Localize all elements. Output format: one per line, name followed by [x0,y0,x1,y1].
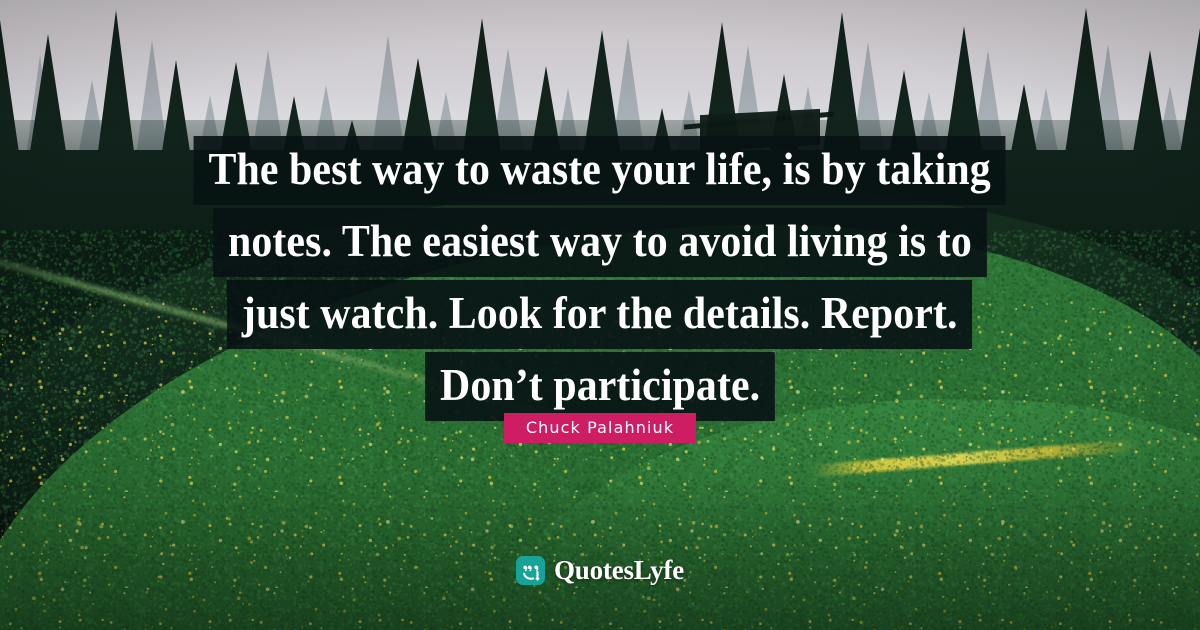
quote-smiley-icon [516,556,545,585]
card-content: The best way to waste your life, is by t… [0,0,1200,630]
quote-line-text: The best way to waste your life, is by t… [194,136,1006,205]
quote-line-text: just watch. Look for the details. Report… [227,280,972,349]
author-badge[interactable]: Chuck Palahniuk [504,413,696,443]
brand-logo[interactable]: QuotesLyfe [0,555,1200,586]
quote-line: just watch. Look for the details. Report… [0,280,1200,349]
quote-line-text: notes. The easiest way to avoid living i… [213,208,987,277]
quote-line: notes. The easiest way to avoid living i… [0,208,1200,277]
quote-line-text: Donʼt participate. [425,352,775,421]
quote-line: Donʼt participate. [0,352,1200,421]
brand-name: QuotesLyfe [554,555,684,586]
quote-card: The best way to waste your life, is by t… [0,0,1200,630]
quote-text: The best way to waste your life, is by t… [0,136,1200,424]
quote-line: The best way to waste your life, is by t… [0,136,1200,205]
author-badge-wrap: Chuck Palahniuk [0,413,1200,443]
